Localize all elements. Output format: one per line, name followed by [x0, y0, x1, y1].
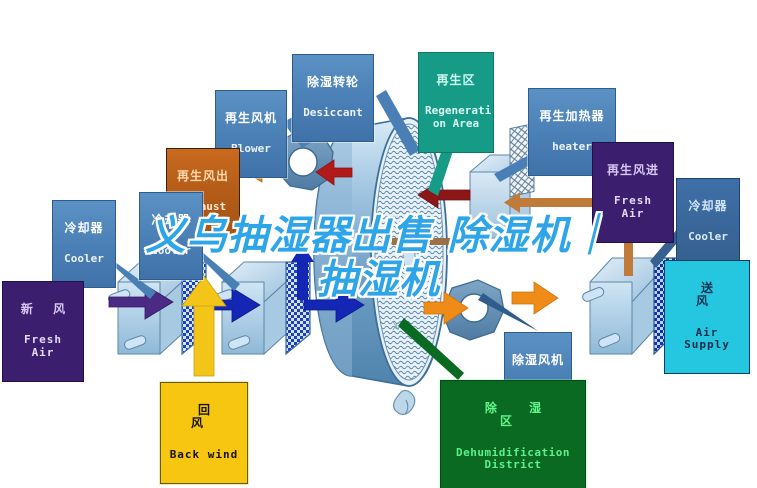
label-back-wind: 回 风 Back wind	[160, 382, 248, 484]
label-cooler-left-outer-en: Cooler	[59, 253, 109, 265]
label-cooler-right-en: Cooler	[683, 231, 733, 243]
label-cooler-right-cn: 冷却器	[683, 200, 733, 213]
label-dehumidification-district-cn: 除 湿 区	[449, 402, 577, 429]
dehum-out-arrow-2	[512, 282, 558, 314]
label-fresh-air-in-cn: 新 风	[11, 303, 75, 316]
label-regen-fresh-air: 再生风进 Fresh Air	[592, 142, 674, 243]
label-regeneration-area-cn: 再生区	[425, 74, 487, 87]
label-cooler-right: 冷却器 Cooler	[676, 178, 740, 266]
label-back-wind-en: Back wind	[169, 449, 239, 461]
label-fresh-air-in-en: Fresh Air	[11, 334, 75, 359]
label-regen-blower-cn: 再生风机	[222, 112, 280, 125]
label-dehumidification-district-en: Dehumidification District	[449, 447, 577, 472]
label-air-supply-cn: 送 风	[673, 282, 741, 309]
label-cooler-left-outer: 冷却器 Cooler	[52, 200, 116, 288]
label-back-wind-cn: 回 风	[169, 404, 239, 431]
label-air-supply-en: Air Supply	[673, 327, 741, 352]
label-desiccant: 除湿转轮 Desiccant	[292, 54, 374, 142]
label-fresh-air-in: 新 风 Fresh Air	[2, 281, 84, 382]
label-air-supply: 送 风 Air Supply	[664, 260, 750, 374]
label-regen-fresh-air-cn: 再生风进	[601, 164, 665, 177]
label-desiccant-cn: 除湿转轮	[299, 76, 367, 89]
label-cooler-left-inner-cn: 冷却器	[146, 214, 196, 227]
label-cooler-left-inner: 冷却器 Cooler	[139, 192, 203, 280]
regen-bottom-line	[392, 238, 476, 245]
label-regen-fresh-air-en: Fresh Air	[601, 195, 665, 220]
label-cooler-left-outer-cn: 冷却器	[59, 222, 109, 235]
label-dehumidification-district: 除 湿 区 Dehumidification District	[440, 380, 586, 488]
label-regeneration-area: 再生区 Regenerati on Area	[418, 52, 494, 153]
dehumidifier-diagram: XY	[0, 0, 757, 488]
label-regen-heater-cn: 再生加热器	[535, 110, 609, 123]
label-exhaust-cn: 再生风出	[174, 170, 232, 183]
label-regeneration-area-en: Regenerati on Area	[425, 105, 487, 130]
label-desiccant-en: Desiccant	[299, 107, 367, 119]
label-cooler-left-inner-en: Cooler	[146, 245, 196, 257]
label-dehum-blower-cn: 除湿风机	[511, 354, 565, 367]
